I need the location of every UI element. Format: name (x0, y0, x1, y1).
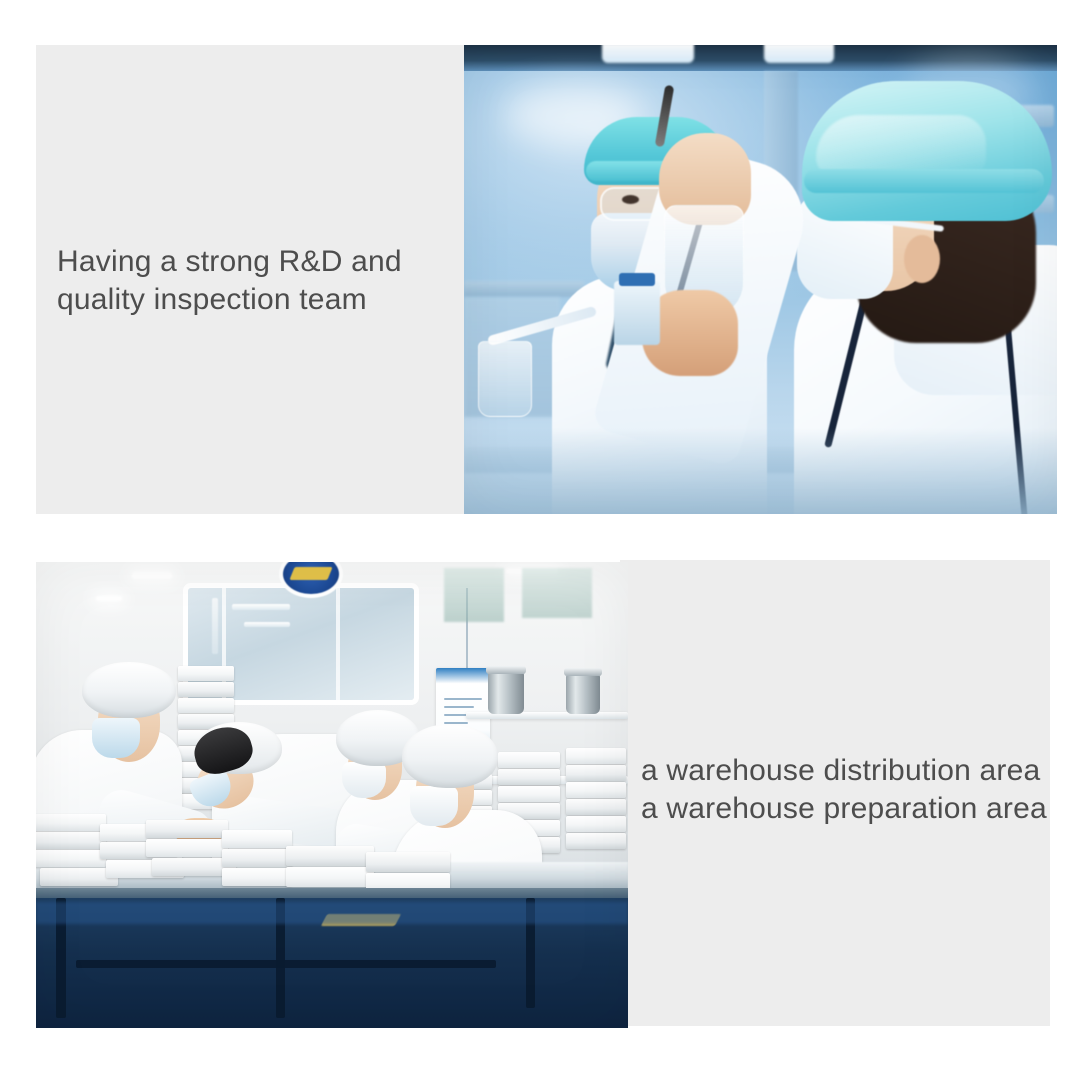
lab-foreground-haze (464, 428, 1057, 514)
window-interior-light (244, 622, 290, 627)
ceiling-light-icon (96, 596, 122, 601)
notice-text-line (444, 698, 482, 700)
bottle-cap (619, 273, 655, 286)
caption-line: Having a strong R&D and (57, 243, 402, 281)
pot-lid (486, 666, 526, 674)
blue-floor-band (36, 902, 628, 924)
glass-partition (522, 568, 592, 618)
surgical-cap-fold (816, 115, 986, 177)
warehouse-packing-photo (36, 562, 628, 1028)
window-frame-highlight (212, 598, 218, 654)
window-mullion (336, 588, 340, 700)
beaker-icon (478, 341, 532, 417)
window-interior-light (232, 604, 290, 610)
eye (622, 195, 639, 204)
lab-bench (464, 281, 584, 297)
caption-line: a warehouse preparation area (641, 790, 1047, 828)
lab-inspection-photo (464, 45, 1057, 514)
steel-pot-icon (488, 672, 524, 714)
caption-line: a warehouse distribution area (641, 752, 1047, 790)
ear (904, 235, 940, 283)
surgical-cap-band (804, 169, 1044, 193)
ceiling-lamp-icon (764, 45, 834, 63)
notice-text-line (444, 706, 474, 708)
steel-pot-icon (566, 674, 600, 714)
ceiling-lamp-icon (602, 45, 694, 63)
table-crossbar (76, 960, 496, 968)
warehouse-caption: a warehouse distribution area a warehous… (641, 752, 1047, 828)
slide-canvas: Having a strong R&D and quality inspecti… (0, 0, 1080, 1080)
ceiling-light-icon (132, 572, 172, 579)
reagent-bottle-icon (614, 281, 660, 345)
glass-partition (444, 568, 504, 622)
pot-lid (564, 668, 602, 676)
caption-line: quality inspection team (57, 281, 402, 319)
rd-quality-caption: Having a strong R&D and quality inspecti… (57, 243, 402, 319)
